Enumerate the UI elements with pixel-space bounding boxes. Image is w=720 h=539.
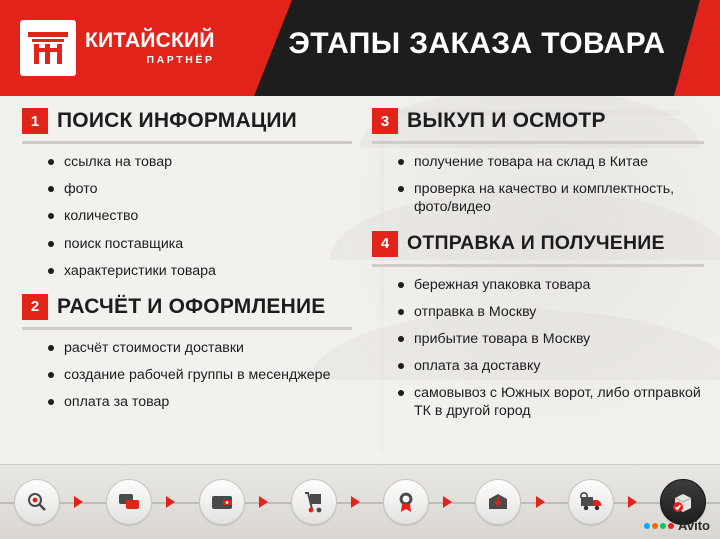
block-4-head: 4 ОТПРАВКА И ПОЛУЧЕНИЕ xyxy=(372,231,704,257)
block-4-rule xyxy=(372,264,704,267)
chinese-gate-icon xyxy=(20,20,76,76)
block-2: 2 РАСЧЁТ И ОФОРМЛЕНИЕ расчёт стоимости д… xyxy=(22,294,352,412)
list-item: количество xyxy=(48,207,352,225)
block-2-title: РАСЧЁТ И ОФОРМЛЕНИЕ xyxy=(57,295,325,319)
avito-label: Avito xyxy=(678,518,710,533)
logo-line1: КИТАЙСКИЙ xyxy=(85,30,215,51)
block-2-number: 2 xyxy=(22,294,48,320)
avito-dots-icon xyxy=(644,523,674,529)
header: КИТАЙСКИЙ ПАРТНЁР ЭТАПЫ ЗАКАЗА ТОВАРА xyxy=(0,0,720,96)
block-3-title: ВЫКУП И ОСМОТР xyxy=(407,109,606,133)
block-4-number: 4 xyxy=(372,231,398,257)
hand-truck-icon xyxy=(291,479,337,525)
list-item: оплата за товар xyxy=(48,393,352,411)
list-item: расчёт стоимости доставки xyxy=(48,339,352,357)
list-item: бережная упаковка товара xyxy=(398,276,704,294)
block-1-title: ПОИСК ИНФОРМАЦИИ xyxy=(57,109,297,133)
quality-badge-icon xyxy=(383,479,429,525)
block-4: 4 ОТПРАВКА И ПОЛУЧЕНИЕ бережная упаковка… xyxy=(372,231,704,421)
arrow-icon xyxy=(628,496,646,508)
list-item: получение товара на склад в Китае xyxy=(398,153,704,171)
arrow-icon xyxy=(536,496,554,508)
arrow-icon xyxy=(443,496,461,508)
list-item: характеристики товара xyxy=(48,262,352,280)
box-download-icon xyxy=(475,479,521,525)
block-2-head: 2 РАСЧЁТ И ОФОРМЛЕНИЕ xyxy=(22,294,352,320)
list-item: поиск поставщика xyxy=(48,235,352,253)
delivery-truck-icon xyxy=(568,479,614,525)
poster: КИТАЙСКИЙ ПАРТНЁР ЭТАПЫ ЗАКАЗА ТОВАРА 1 … xyxy=(0,0,720,539)
block-2-list: расчёт стоимости доставки создание рабоч… xyxy=(22,339,352,412)
page-title: ЭТАПЫ ЗАКАЗА ТОВАРА xyxy=(262,28,692,60)
arrow-icon xyxy=(351,496,369,508)
block-4-list: бережная упаковка товара отправка в Моск… xyxy=(372,276,704,421)
column-right: 3 ВЫКУП И ОСМОТР получение товара на скл… xyxy=(372,108,704,435)
block-1: 1 ПОИСК ИНФОРМАЦИИ ссылка на товар фото … xyxy=(22,108,352,280)
arrow-icon xyxy=(166,496,184,508)
list-item: прибытие товара в Москву xyxy=(398,330,704,348)
block-3-head: 3 ВЫКУП И ОСМОТР xyxy=(372,108,704,134)
arrow-icon xyxy=(259,496,277,508)
logo: КИТАЙСКИЙ ПАРТНЁР xyxy=(20,20,215,76)
chat-bubbles-icon xyxy=(106,479,152,525)
list-item: самовывоз с Южных ворот, либо отправкой … xyxy=(398,384,704,420)
list-item: отправка в Москву xyxy=(398,303,704,321)
block-1-head: 1 ПОИСК ИНФОРМАЦИИ xyxy=(22,108,352,134)
block-2-rule xyxy=(22,327,352,330)
block-1-list: ссылка на товар фото количество поиск по… xyxy=(22,153,352,280)
logo-text: КИТАЙСКИЙ ПАРТНЁР xyxy=(85,30,215,66)
block-1-number: 1 xyxy=(22,108,48,134)
block-3: 3 ВЫКУП И ОСМОТР получение товара на скл… xyxy=(372,108,704,217)
list-item: оплата за доставку xyxy=(398,357,704,375)
avito-watermark: Avito xyxy=(644,518,710,533)
block-3-rule xyxy=(372,141,704,144)
footer-strip: Avito xyxy=(0,464,720,539)
list-item: создание рабочей группы в месенджере xyxy=(48,366,352,384)
column-left: 1 ПОИСК ИНФОРМАЦИИ ссылка на товар фото … xyxy=(22,108,352,425)
logo-line2: ПАРТНЁР xyxy=(85,55,215,66)
list-item: проверка на качество и комплектность, фо… xyxy=(398,180,704,216)
magnifier-icon xyxy=(14,479,60,525)
block-3-list: получение товара на склад в Китае провер… xyxy=(372,153,704,217)
block-3-number: 3 xyxy=(372,108,398,134)
block-4-title: ОТПРАВКА И ПОЛУЧЕНИЕ xyxy=(407,232,665,255)
wallet-icon xyxy=(199,479,245,525)
block-1-rule xyxy=(22,141,352,144)
list-item: фото xyxy=(48,180,352,198)
arrow-icon xyxy=(74,496,92,508)
list-item: ссылка на товар xyxy=(48,153,352,171)
process-icon-row xyxy=(0,465,720,539)
